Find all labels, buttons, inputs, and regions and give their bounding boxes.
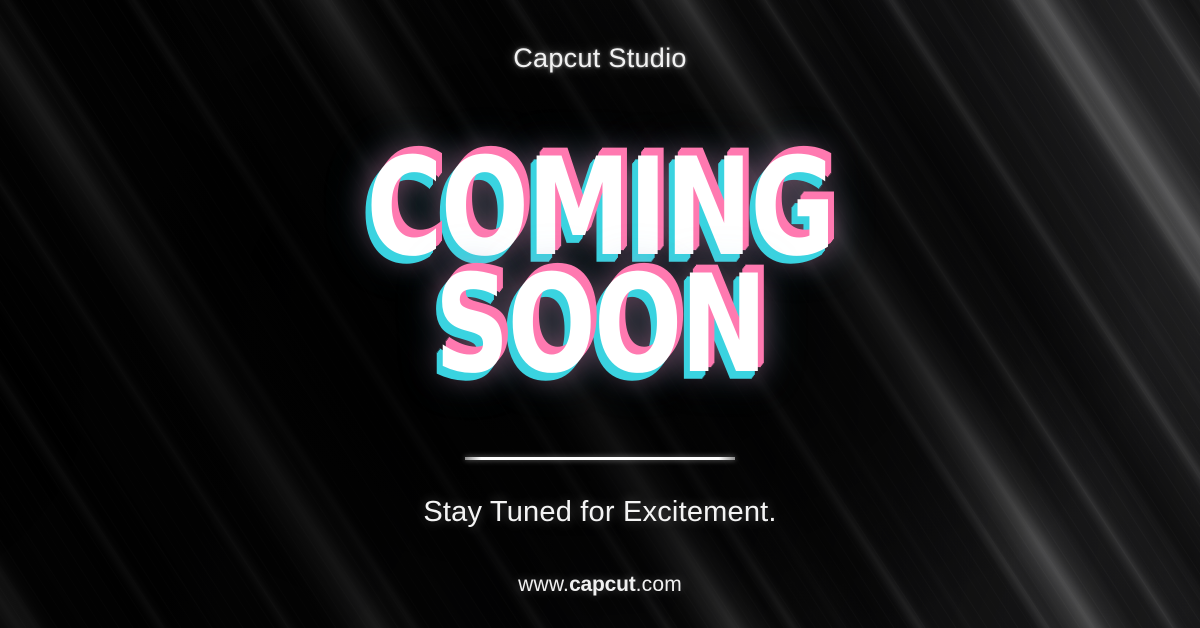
tagline-text: Stay Tuned for Excitement. (423, 496, 776, 529)
headline-line-soon: SOON (366, 267, 833, 383)
divider-rule (465, 457, 735, 460)
poster-content: Capcut Studio COMING SOON Stay Tuned for… (0, 0, 1200, 628)
coming-soon-poster: Capcut Studio COMING SOON Stay Tuned for… (0, 0, 1200, 628)
headline-block: COMING SOON (366, 150, 833, 357)
website-url-suffix: .com (636, 573, 682, 596)
website-url-prefix: www. (518, 573, 569, 596)
website-url[interactable]: www.capcut.com (518, 573, 682, 597)
website-url-name: capcut (569, 573, 636, 596)
brand-title: Capcut Studio (513, 43, 687, 74)
